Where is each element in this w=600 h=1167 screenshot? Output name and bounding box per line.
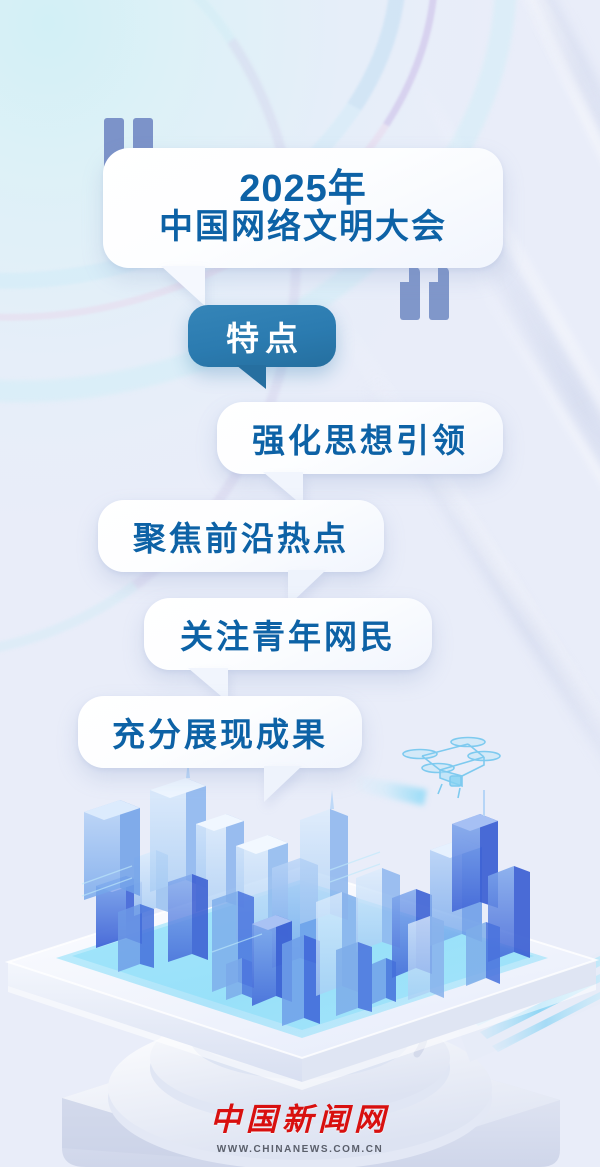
feature-badge: 特点 <box>188 305 336 367</box>
title-line-event: 中国网络文明大会 <box>159 210 447 246</box>
point-label-1: 强化思想引领 <box>252 414 468 462</box>
logo-wordmark: 中国新闻网 <box>0 1094 600 1139</box>
point-label-2: 聚焦前沿热点 <box>133 512 349 560</box>
chinanews-logo: 中国新闻网 WWW.CHINANEWS.COM.CN <box>0 1094 600 1155</box>
point-label-4: 充分展现成果 <box>112 708 328 756</box>
title-line-year: 2025年 <box>239 170 367 208</box>
logo-url: WWW.CHINANEWS.COM.CN <box>0 1144 600 1155</box>
point-bubble-3: 关注青年网民 <box>144 598 432 670</box>
drone-icon <box>398 728 502 802</box>
feature-badge-label: 特点 <box>220 312 304 360</box>
feature-badge-tail <box>236 365 266 389</box>
title-bubble-tail <box>161 266 205 306</box>
title-bubble: 2025年 中国网络文明大会 <box>103 148 503 268</box>
point-label-3: 关注青年网民 <box>180 610 396 658</box>
poster-root: 2025年 中国网络文明大会 特点 强化思想引领 聚焦前沿热点 关注青年网民 充… <box>0 0 600 1167</box>
point-bubble-2: 聚焦前沿热点 <box>98 500 384 572</box>
point-bubble-4-tail <box>264 766 302 802</box>
point-bubble-4: 充分展现成果 <box>78 696 362 768</box>
point-bubble-1: 强化思想引领 <box>217 402 503 474</box>
